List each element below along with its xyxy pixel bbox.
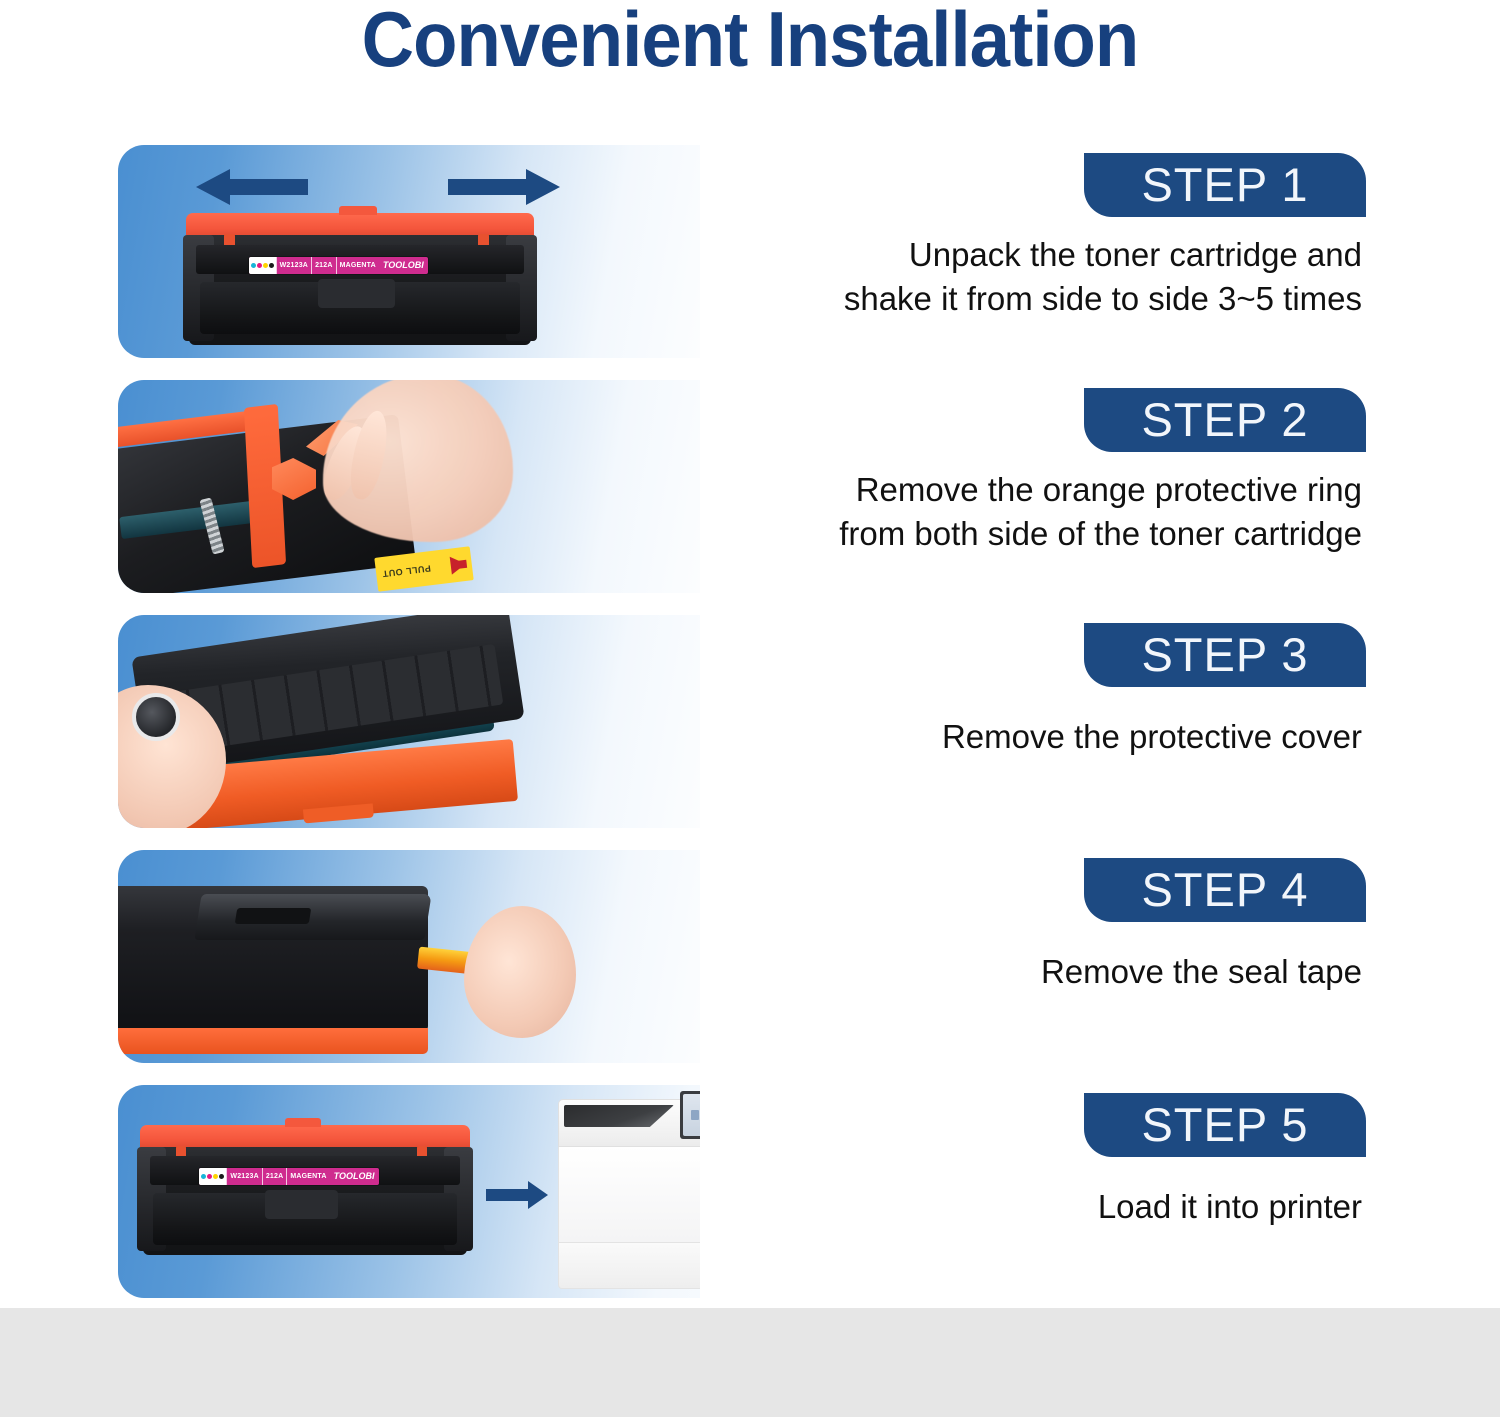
step-4-text-card: STEP 4 Remove the seal tape [700,850,1386,1063]
cartridge-end-cap [132,693,180,741]
step-row: STEP 4 Remove the seal tape [0,850,1500,1082]
step-1-artwork: W2123A 212A MAGENTA TOOLOBI [118,145,738,358]
cartridge-label: W2123A 212A MAGENTA TOOLOBI [199,1168,378,1185]
label-brand: TOOLOBI [330,1168,379,1185]
step-row: PULL OUT STEP 2 Remove the orange protec… [0,380,1500,612]
page-title: Convenient Installation [53,0,1448,85]
step-5-badge: STEP 5 [1084,1093,1366,1157]
step-row: STEP 3 Remove the protective cover [0,615,1500,847]
step-2-badge: STEP 2 [1084,388,1366,452]
arrow-right-icon [486,1179,548,1211]
pull-out-arrow-icon [450,555,467,575]
label-series: 212A [262,1168,287,1185]
cartridge-label: W2123A 212A MAGENTA TOOLOBI [249,257,428,274]
hand [464,906,576,1038]
step-1-caption: Unpack the toner cartridge and shake it … [712,233,1362,321]
arrow-right-icon [448,167,560,207]
step-3-caption: Remove the protective cover [712,715,1362,759]
label-brand: TOOLOBI [379,257,428,274]
cartridge-center-knob [265,1190,338,1219]
label-color-name: MAGENTA [336,257,379,274]
step-3-artwork [118,615,738,828]
step-5-text-card: STEP 5 Load it into printer [700,1085,1386,1298]
label-series: 212A [311,257,336,274]
step-2-text-card: STEP 2 Remove the orange protective ring… [700,380,1386,593]
step-4-image-panel [118,850,738,1063]
cartridge-top-shell [194,894,431,940]
step-4-artwork [118,850,738,1063]
step-3-badge: STEP 3 [1084,623,1366,687]
step-2-artwork: PULL OUT [118,380,738,593]
step-1-image-panel: W2123A 212A MAGENTA TOOLOBI [118,145,738,358]
steps-list: W2123A 212A MAGENTA TOOLOBI STEP 1 Unpac… [0,145,1500,1320]
step-4-caption: Remove the seal tape [712,950,1362,994]
arrow-left-icon [196,167,308,207]
step-3-text-card: STEP 3 Remove the protective cover [700,615,1386,828]
toner-cartridge: W2123A 212A MAGENTA TOOLOBI [186,213,534,345]
label-color-dots [199,1168,226,1185]
label-color-dots [249,257,276,274]
step-2-caption: Remove the orange protective ring from b… [712,468,1362,556]
step-row: W2123A 212A MAGENTA TOOLOBI [0,1085,1500,1317]
label-part-number: W2123A [226,1168,261,1185]
step-5-caption: Load it into printer [712,1185,1362,1229]
label-part-number: W2123A [276,257,311,274]
cartridge-center-knob [318,279,395,308]
footer-band [0,1308,1500,1417]
cartridge-notch [235,908,312,924]
orange-base-strip [118,1028,428,1054]
step-3-image-panel [118,615,738,828]
label-color-name: MAGENTA [286,1168,329,1185]
step-row: W2123A 212A MAGENTA TOOLOBI STEP 1 Unpac… [0,145,1500,377]
step-2-image-panel: PULL OUT [118,380,738,593]
step-1-badge: STEP 1 [1084,153,1366,217]
installation-guide-page: Convenient Installation [0,0,1500,1417]
pull-out-tag-label: PULL OUT [382,563,432,579]
step-1-text-card: STEP 1 Unpack the toner cartridge and sh… [700,145,1386,358]
toner-cartridge: W2123A 212A MAGENTA TOOLOBI [140,1125,470,1255]
step-4-badge: STEP 4 [1084,858,1366,922]
